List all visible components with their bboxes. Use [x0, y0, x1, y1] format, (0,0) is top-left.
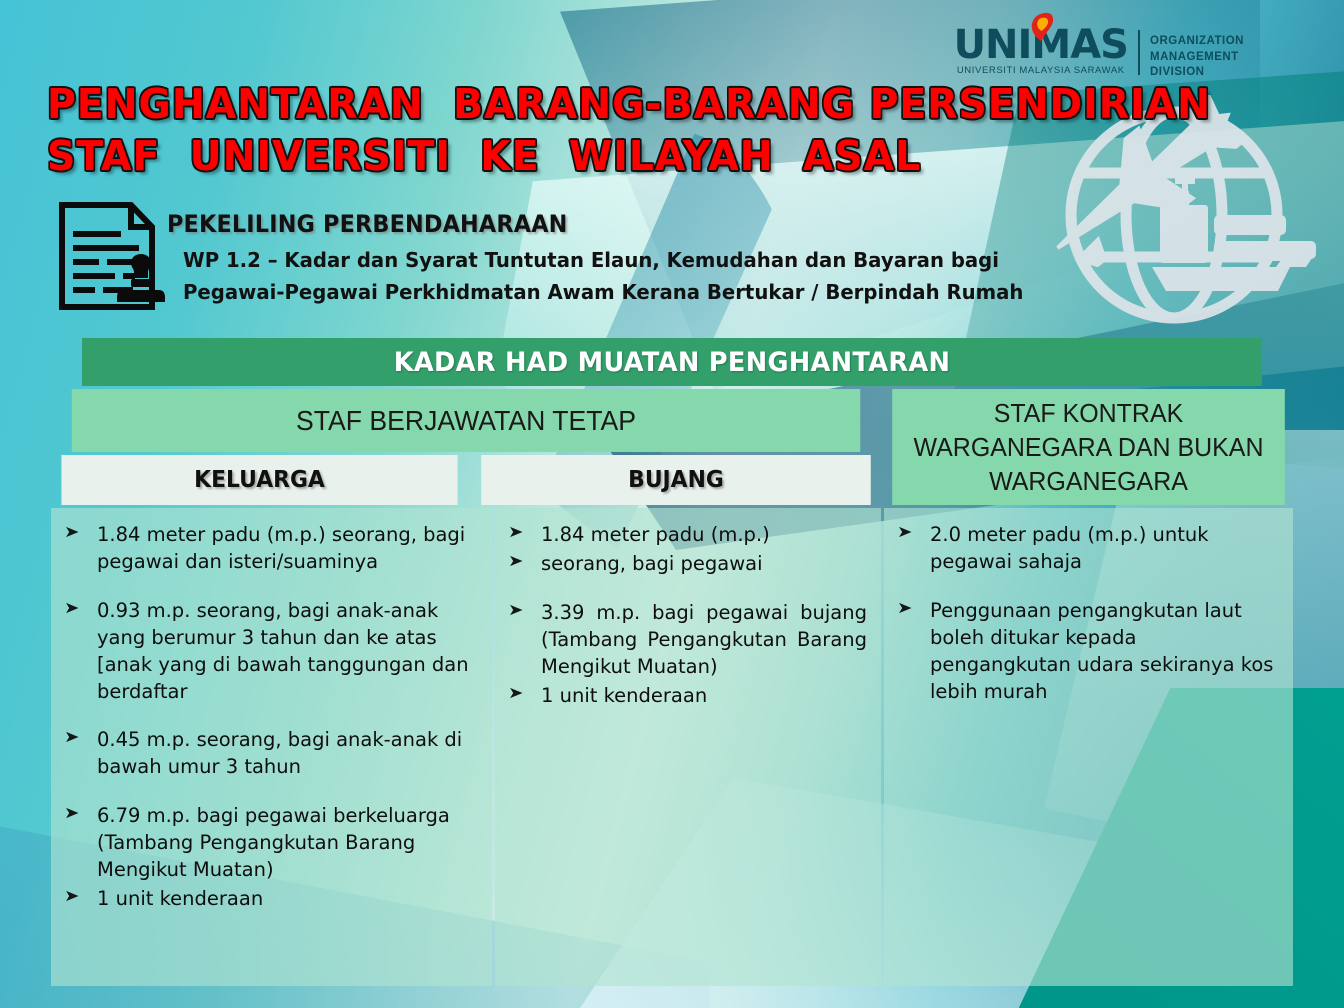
- table-body: STAF BERJAWATAN TETAP KELUARGA BUJANG 1.…: [51, 389, 1293, 986]
- list-item: 1.84 meter padu (m.p.): [505, 522, 867, 549]
- bujang-list: 1.84 meter padu (m.p.) seorang, bagi peg…: [505, 522, 867, 709]
- kontrak-list: 2.0 meter padu (m.p.) untuk pegawai saha…: [894, 522, 1279, 705]
- logo-divider: [1138, 30, 1140, 75]
- slide-canvas: UNIMAS UNIVERSITI MALAYSIA SARAWAK ORGAN…: [0, 0, 1344, 1008]
- table-title: KADAR HAD MUATAN PENGHANTARAN: [82, 338, 1262, 386]
- list-item: 3.39 m.p. bagi pegawai bujang (Tambang P…: [505, 600, 867, 681]
- table-content-row: 1.84 meter padu (m.p.) seorang, bagi peg…: [51, 508, 881, 986]
- cell-keluarga: 1.84 meter padu (m.p.) seorang, bagi peg…: [51, 508, 492, 986]
- list-item: 0.93 m.p. seorang, bagi anak-anak yang b…: [61, 598, 478, 706]
- list-item: 6.79 m.p. bagi pegawai berkeluarga (Tamb…: [61, 803, 478, 884]
- list-item: 1 unit kenderaan: [61, 886, 478, 913]
- page-title: PENGHANTARAN BARANG-BARANG PERSENDIRIAN …: [47, 78, 1211, 183]
- document-stamp-icon: [55, 200, 165, 312]
- cell-kontrak: 2.0 meter padu (m.p.) untuk pegawai saha…: [884, 508, 1293, 986]
- division-line-1: ORGANIZATION MANAGEMENT: [1150, 34, 1330, 65]
- unimas-wordmark: UNIMAS UNIVERSITI MALAYSIA SARAWAK: [954, 16, 1128, 76]
- group-header-contract: STAF KONTRAKWARGANEGARA DAN BUKANWARGANE…: [892, 389, 1285, 505]
- contract-staff-group: STAF KONTRAKWARGANEGARA DAN BUKANWARGANE…: [884, 389, 1293, 986]
- unimas-logo: UNIMAS UNIVERSITI MALAYSIA SARAWAK ORGAN…: [954, 16, 1330, 81]
- circular-heading: PEKELILING PERBENDAHARAAN: [167, 210, 568, 238]
- keluarga-list: 1.84 meter padu (m.p.) seorang, bagi peg…: [61, 522, 478, 913]
- unimas-tagline: UNIVERSITI MALAYSIA SARAWAK: [954, 65, 1128, 76]
- list-item: 0.45 m.p. seorang, bagi anak-anak di baw…: [61, 727, 478, 781]
- list-item: Penggunaan pengangkutan laut boleh dituk…: [894, 598, 1279, 706]
- sub-header-bujang: BUJANG: [481, 455, 871, 505]
- list-item: 2.0 meter padu (m.p.) untuk pegawai saha…: [894, 522, 1279, 576]
- unimas-flame-icon: [1028, 12, 1054, 42]
- permanent-staff-group: STAF BERJAWATAN TETAP KELUARGA BUJANG 1.…: [51, 389, 881, 986]
- sub-header-keluarga: KELUARGA: [61, 455, 457, 505]
- division-name: ORGANIZATION MANAGEMENT DIVISION: [1150, 16, 1330, 81]
- list-item: seorang, bagi pegawai: [505, 551, 867, 578]
- circular-body: WP 1.2 – Kadar dan Syarat Tuntutan Elaun…: [183, 245, 1047, 309]
- list-item: 1.84 meter padu (m.p.) seorang, bagi peg…: [61, 522, 478, 576]
- rates-table: KADAR HAD MUATAN PENGHANTARAN STAF BERJA…: [51, 338, 1293, 983]
- cell-bujang: 1.84 meter padu (m.p.) seorang, bagi peg…: [495, 508, 881, 986]
- group-header-permanent: STAF BERJAWATAN TETAP: [72, 389, 861, 452]
- sub-header-row: KELUARGA BUJANG: [51, 455, 881, 505]
- list-item: 1 unit kenderaan: [505, 683, 867, 710]
